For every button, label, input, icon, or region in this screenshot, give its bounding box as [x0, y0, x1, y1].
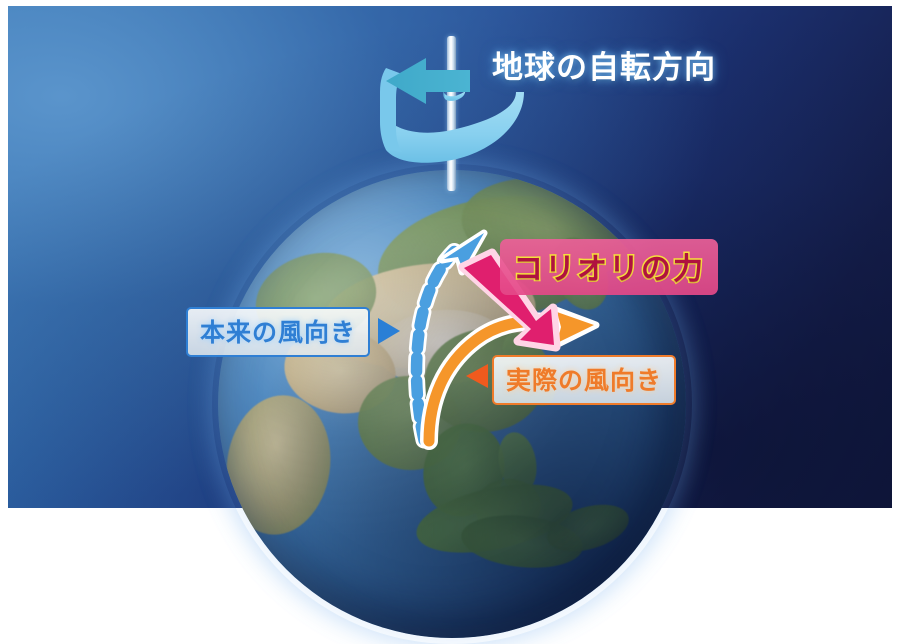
- actual-wind-direction-label: 実際の風向き: [492, 355, 676, 405]
- coriolis-force-arrow: [0, 0, 900, 516]
- original-wind-direction-label: 本来の風向き: [186, 307, 370, 357]
- rotation-direction-label: 地球の自転方向: [492, 42, 716, 87]
- coriolis-force-label: コリオリの力: [500, 239, 718, 295]
- diagram-canvas: 地球の自転方向 コリオリの力 本来の風向き 実際の風向き: [0, 0, 900, 516]
- original-wind-pointer-arrow: [378, 318, 400, 344]
- actual-wind-pointer-arrow: [466, 364, 488, 388]
